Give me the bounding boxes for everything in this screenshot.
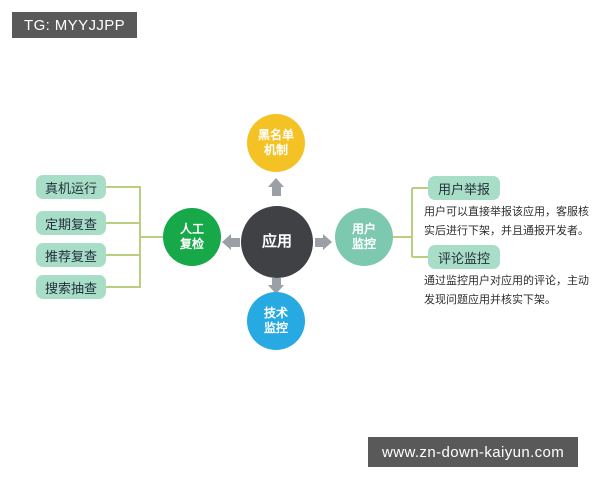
node-blacklist-line2: 机制 [264,143,288,158]
diagram-canvas: 应用 黑名单 机制 技术 监控 人工 复检 用户 监控 真机运行 定期复查 推荐… [0,0,600,480]
arrow-down-stem [272,278,281,286]
pill-comment-monitor-label: 评论监控 [438,248,490,267]
node-blacklist-mechanism[interactable]: 黑名单 机制 [247,114,305,172]
pill-search-spotcheck-label: 搜索抽查 [45,278,97,297]
pill-user-report[interactable]: 用户举报 [428,176,500,200]
node-manual-line1: 人工 [180,222,204,237]
description-comment-monitor: 通过监控用户对应用的评论，主动发现问题应用并核实下架。 [424,272,596,311]
node-tech-monitor[interactable]: 技术 监控 [247,292,305,350]
node-application-label: 应用 [262,232,292,251]
watermark-bottom-right: www.zn-down-kaiyun.com [368,437,578,467]
node-blacklist-line1: 黑名单 [258,128,294,143]
description-user-report: 用户可以直接举报该应用，客服核实后进行下架，并且通报开发者。 [424,203,596,242]
pill-periodic-review[interactable]: 定期复查 [36,211,106,235]
arrow-right-icon [323,234,332,250]
pill-real-device[interactable]: 真机运行 [36,175,106,199]
arrow-up-icon [268,178,284,187]
pill-search-spotcheck[interactable]: 搜索抽查 [36,275,106,299]
node-manual-recheck[interactable]: 人工 复检 [163,208,221,266]
arrow-up-stem [272,187,281,196]
node-tech-line2: 监控 [264,321,288,336]
node-tech-line1: 技术 [264,306,288,321]
node-user-monitor-line2: 监控 [352,237,376,252]
arrow-right-stem [315,238,324,247]
pill-periodic-review-label: 定期复查 [45,214,97,233]
arrow-left-stem [231,238,240,247]
pill-recommend-review-label: 推荐复查 [45,246,97,265]
arrow-left-icon [222,234,231,250]
node-manual-line2: 复检 [180,237,204,252]
node-application[interactable]: 应用 [241,206,313,278]
pill-real-device-label: 真机运行 [45,178,97,197]
pill-user-report-label: 用户举报 [438,179,490,198]
watermark-top-left: TG: MYYJJPP [12,12,137,38]
node-user-monitor-line1: 用户 [352,222,376,237]
pill-comment-monitor[interactable]: 评论监控 [428,245,500,269]
pill-recommend-review[interactable]: 推荐复查 [36,243,106,267]
node-user-monitor[interactable]: 用户 监控 [335,208,393,266]
